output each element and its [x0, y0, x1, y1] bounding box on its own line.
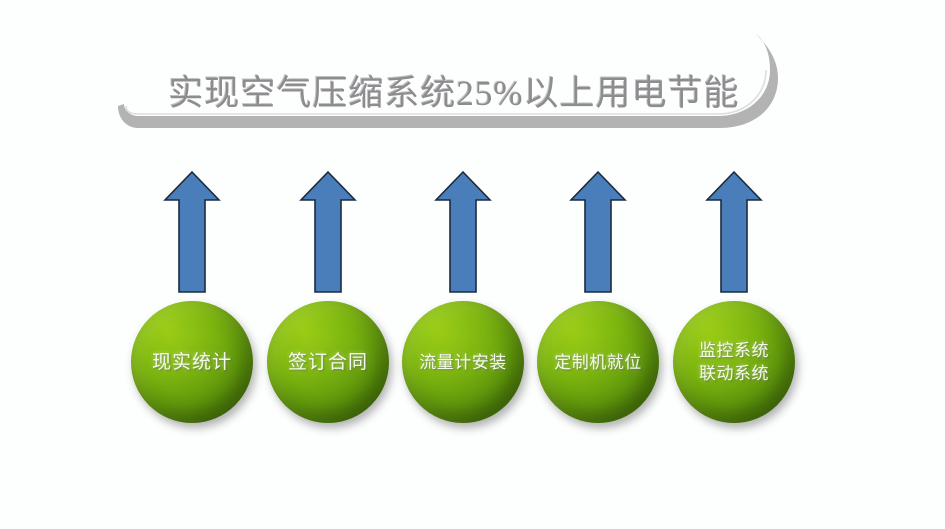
step-node-2[interactable]: 签订合同 [267, 301, 389, 423]
arrow-up-icon-5 [705, 170, 763, 294]
step-node-label-1: 现实统计 [148, 350, 236, 375]
page-title: 实现空气压缩系统25%以上用电节能 [154, 76, 754, 111]
arrow-up-icon-2 [299, 170, 357, 294]
slide-canvas: 实现空气压缩系统25%以上用电节能 现实统计 签订合同 流量计安装 定制机就位 … [0, 0, 945, 529]
step-node-1[interactable]: 现实统计 [131, 301, 253, 423]
step-node-label-2: 签订合同 [284, 350, 372, 375]
step-node-5[interactable]: 监控系统 联动系统 [673, 301, 795, 423]
step-node-3[interactable]: 流量计安装 [402, 301, 524, 423]
step-node-4[interactable]: 定制机就位 [537, 301, 659, 423]
step-node-label-5: 监控系统 联动系统 [695, 339, 773, 385]
arrow-up-icon-4 [569, 170, 627, 294]
step-node-label-4: 定制机就位 [550, 351, 646, 374]
arrow-up-icon-1 [163, 170, 221, 294]
step-node-label-3: 流量计安装 [415, 351, 511, 374]
arrow-up-icon-3 [434, 170, 492, 294]
title-banner: 实现空气压缩系统25%以上用电节能 [118, 34, 778, 136]
